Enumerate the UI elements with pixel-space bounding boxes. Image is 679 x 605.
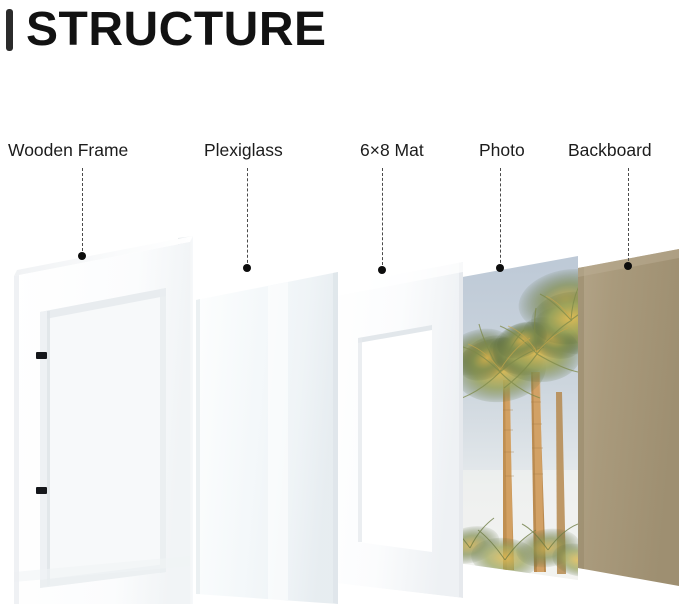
frame-clip-upper xyxy=(36,352,47,359)
structure-diagram-page: STRUCTURE Wooden Frame Plexiglass 6×8 Ma… xyxy=(0,0,679,605)
layer-wooden-frame xyxy=(0,0,679,605)
leader-line-wooden-frame xyxy=(82,168,83,256)
leader-line-mat xyxy=(382,168,383,270)
leader-dot-mat xyxy=(378,266,386,274)
leader-line-photo xyxy=(500,168,501,268)
frame-clip-lower xyxy=(36,487,47,494)
leader-dot-photo xyxy=(496,264,504,272)
leader-line-plexiglass xyxy=(247,168,248,268)
leader-dot-plexiglass xyxy=(243,264,251,272)
leader-dot-backboard xyxy=(624,262,632,270)
exploded-view-stage xyxy=(0,0,679,605)
leader-dot-wooden-frame xyxy=(78,252,86,260)
leader-line-backboard xyxy=(628,168,629,266)
